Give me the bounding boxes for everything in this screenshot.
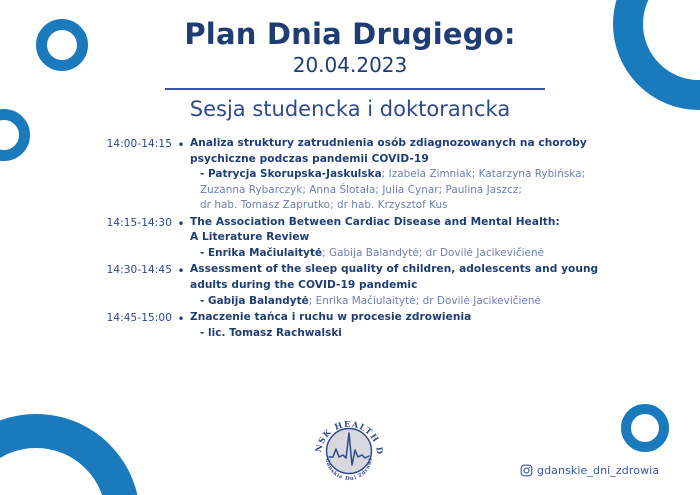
entry-title-line: Znaczenie tańca i ruchu w procesie zdrow…: [190, 310, 616, 326]
event-logo: GDANSK HEALTH DAYS Gdanskie Dni Zdrowia: [312, 417, 386, 485]
page-title: Plan Dnia Drugiego:: [0, 18, 700, 50]
instagram-handle[interactable]: gdanskie_dni_zdrowia: [520, 464, 659, 477]
bullet-icon: •: [172, 310, 190, 328]
schedule-time: 14:45-15:00: [0, 310, 172, 326]
schedule-time: 14:30-14:45: [0, 262, 172, 278]
entry-author-rest: ; Izabela Zimniak; Katarzyna Rybińska;: [382, 168, 585, 180]
schedule-row: 14:00-14:15 • Analiza struktury zatrudni…: [0, 136, 700, 214]
entry-author-lead: - Patrycja Skorupska-Jaskulska: [200, 168, 382, 180]
entry-authors: - Gabija Balandytė; Enrika Mačiulaitytė;…: [190, 294, 616, 309]
schedule-row: 14:30-14:45 • Assessment of the sleep qu…: [0, 262, 700, 309]
schedule-entry: Znaczenie tańca i ruchu w procesie zdrow…: [190, 310, 700, 341]
gdansk-health-days-logo-icon: GDANSK HEALTH DAYS Gdanskie Dni Zdrowia: [312, 417, 386, 485]
instagram-icon: [520, 464, 533, 477]
entry-author-rest: ; Enrika Mačiulaitytė; dr Dovilė Jacikev…: [309, 295, 541, 307]
instagram-handle-text: gdanskie_dni_zdrowia: [537, 464, 659, 477]
entry-title-line: Assessment of the sleep quality of child…: [190, 262, 616, 278]
poster-canvas: Plan Dnia Drugiego: 20.04.2023 Sesja stu…: [0, 0, 700, 495]
entry-authors: - Patrycja Skorupska-Jaskulska; Izabela …: [190, 167, 616, 182]
entry-title-line: The Association Between Cardiac Disease …: [190, 215, 616, 231]
schedule-list: 14:00-14:15 • Analiza struktury zatrudni…: [0, 136, 700, 342]
entry-author-lead: - Gabija Balandytė: [200, 295, 309, 307]
schedule-entry: The Association Between Cardiac Disease …: [190, 215, 700, 262]
entry-title-line: A Literature Review: [190, 230, 616, 246]
bullet-icon: •: [172, 262, 190, 280]
poster-header: Plan Dnia Drugiego: 20.04.2023: [0, 18, 700, 77]
entry-authors: Zuzanna Rybarczyk; Anna Ślotała; Julia C…: [190, 183, 616, 198]
schedule-entry: Assessment of the sleep quality of child…: [190, 262, 700, 309]
entry-authors: dr hab. Tomasz Zaprutko; dr hab. Krzyszt…: [190, 198, 616, 213]
session-title: Sesja studencka i doktorancka: [0, 97, 700, 122]
entry-title-line: Analiza struktury zatrudnienia osób zdia…: [190, 136, 616, 152]
entry-author-rest: ; Gabija Balandytė; dr Dovilė Jacikeviči…: [322, 247, 544, 259]
schedule-time: 14:00-14:15: [0, 136, 172, 152]
entry-title-line: adults during the COVID-19 pandemic: [190, 278, 616, 294]
schedule-entry: Analiza struktury zatrudnienia osób zdia…: [190, 136, 700, 214]
entry-authors: - lic. Tomasz Rachwalski: [190, 326, 616, 341]
schedule-row: 14:45-15:00 • Znaczenie tańca i ruchu w …: [0, 310, 700, 341]
entry-author-lead: - Enrika Mačiulaitytė: [200, 247, 322, 259]
entry-title-line: psychiczne podczas pandemii COVID-19: [190, 152, 616, 168]
header-divider: [165, 88, 545, 90]
bullet-icon: •: [172, 215, 190, 233]
decorative-ring-bottom-left: [0, 414, 140, 495]
bullet-icon: •: [172, 136, 190, 154]
schedule-row: 14:15-14:30 • The Association Between Ca…: [0, 215, 700, 262]
decorative-ring-right: [621, 404, 669, 452]
poster-date: 20.04.2023: [0, 54, 700, 77]
schedule-time: 14:15-14:30: [0, 215, 172, 231]
entry-authors: - Enrika Mačiulaitytė; Gabija Balandytė;…: [190, 246, 616, 261]
